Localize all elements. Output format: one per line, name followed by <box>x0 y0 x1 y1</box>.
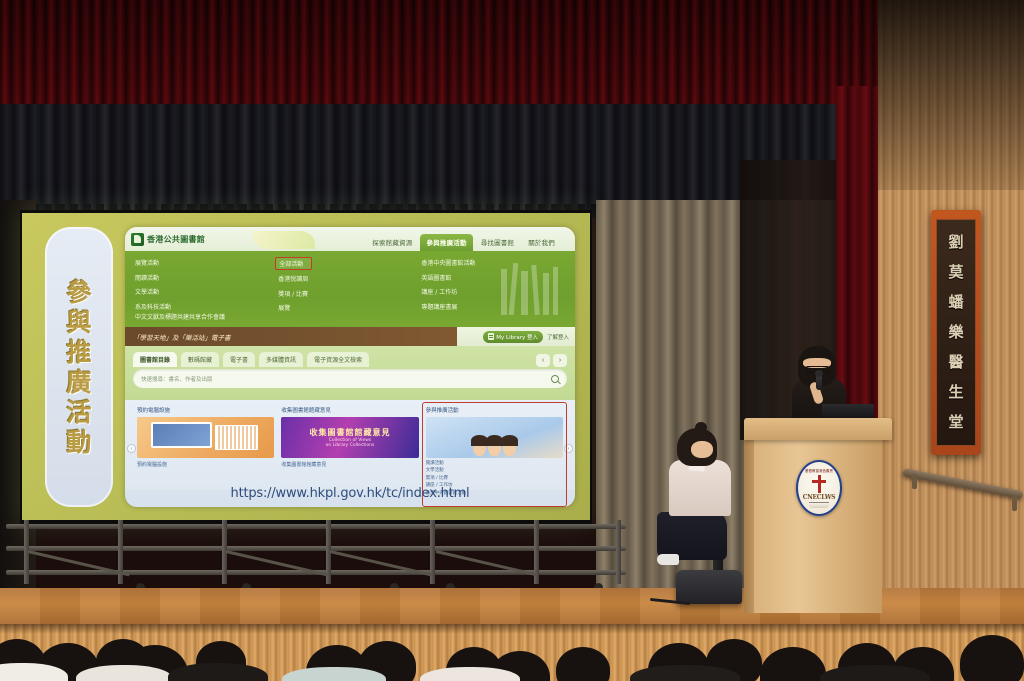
plaque-char: 樂 <box>948 325 963 340</box>
podium-top <box>744 418 892 440</box>
collection-of-views-banner: 收集圖書館館藏意見 Collection of Views on Library… <box>281 417 418 458</box>
student-face <box>473 438 486 456</box>
banner-english-line2: on Library Collections <box>326 443 375 448</box>
search-icon[interactable] <box>551 375 559 383</box>
mega-item[interactable]: 文學活動 <box>135 287 278 296</box>
microphone-icon <box>816 374 822 390</box>
my-library-login-button[interactable]: My Library 登入 <box>483 331 543 343</box>
student-face <box>503 438 516 456</box>
slide-url-text: https://www.hkpl.gov.hk/tc/index.html <box>125 486 575 501</box>
plaque-char: 蟠 <box>948 295 963 310</box>
wall-plaque-inner: 劉 莫 蟠 樂 醫 生 堂 <box>936 219 976 446</box>
projection-screen: 參 與 推 廣 活 動 香港公共圖書館 探索館藏資源 參與推廣活動 <box>20 210 592 525</box>
podium: 基督教香港信義會 CNECLWS <box>744 418 892 613</box>
handrail-bracket <box>1012 496 1017 511</box>
activity-item[interactable]: 獎項 / 比賽 <box>426 475 563 481</box>
slide-title-char: 動 <box>66 430 91 455</box>
nav-tab-find-library[interactable]: 尋找圖書館 <box>475 234 521 251</box>
audience-shoulder <box>76 665 172 681</box>
cards-prev-icon[interactable]: ‹ <box>127 444 136 453</box>
mega-column-2: 全部活動 香港悅讀周 獎項 / 比賽 展覽 <box>278 258 421 312</box>
library-book-icon <box>131 233 144 246</box>
slide-side-title: 參 與 推 廣 活 動 <box>45 227 113 507</box>
mega-item[interactable]: 閱讀活動 <box>135 273 278 282</box>
login-help-link[interactable]: 了解登入 <box>547 333 569 341</box>
banner-login-area: My Library 登入 了解登入 <box>457 327 575 346</box>
feature-card-computer[interactable]: 預約電腦設施 預約電腦設施 <box>137 406 274 490</box>
equipment-case <box>676 570 742 604</box>
slide-title-char: 推 <box>66 340 91 365</box>
crest-abbreviation: CNECLWS <box>803 494 835 501</box>
mega-item-wide[interactable]: 中文文獻及標題共建共享合作會議 <box>135 312 225 321</box>
search-tab-bar: 圖書館目錄 數碼館藏 電子書 多媒體資訊 電子資源全文檢索 ‹ › <box>133 352 567 367</box>
feature-card-activities-highlighted[interactable]: 參與推廣活動 閱讀活動 文學活動 獎項 / 比賽 講座 / 工作坊 香港中央圖書… <box>426 406 563 490</box>
search-tab-multimedia[interactable]: 多媒體資訊 <box>259 352 303 367</box>
library-card-icon <box>488 333 494 340</box>
stage-railing <box>6 520 626 590</box>
student-face <box>488 438 501 456</box>
nav-tab-explore[interactable]: 探索館藏資源 <box>366 234 418 251</box>
slide-title-char: 活 <box>66 400 91 425</box>
chevron-left-icon[interactable]: ‹ <box>536 354 550 367</box>
audience-shoulder <box>820 665 930 681</box>
site-nav: 探索館藏資源 參與推廣活動 尋找圖書館 關於我們 <box>366 227 569 251</box>
mega-item[interactable]: 展覽 <box>278 303 421 312</box>
hkpl-logo[interactable]: 香港公共圖書館 <box>131 233 205 246</box>
slide-title-char: 與 <box>66 310 91 335</box>
plaque-char: 劉 <box>948 235 963 250</box>
banner-chinese-title: 收集圖書館館藏意見 <box>309 427 390 438</box>
activity-item[interactable]: 文學活動 <box>426 467 563 473</box>
seated-student <box>655 424 743 588</box>
audience-head <box>760 647 826 681</box>
card-title: 收集圖書館館藏意見 <box>281 406 418 414</box>
speaker-presenter <box>786 348 852 424</box>
student-shoe <box>657 554 679 565</box>
feature-cards: ‹ › 預約電腦設施 預約電腦設施 收集圖書館館藏意見 收集圖書館館藏意見 Co… <box>125 400 575 490</box>
handrail-bracket <box>912 474 917 489</box>
card-title: 預約電腦設施 <box>137 406 274 414</box>
audience-shoulder <box>168 663 268 681</box>
audience-shoulder <box>630 665 740 681</box>
student-trousers <box>657 512 727 560</box>
banner-caption: 「學習天地」及「樂活站」電子書 <box>125 332 231 342</box>
card-link[interactable]: 收集圖書館館藏意見 <box>281 461 418 468</box>
search-tab-arrows: ‹ › <box>536 354 567 367</box>
plaque-char: 堂 <box>948 415 963 430</box>
open-book-icon <box>809 502 829 508</box>
railing-post <box>616 520 621 584</box>
feature-card-views[interactable]: 收集圖書館館藏意見 收集圖書館館藏意見 Collection of Views … <box>281 406 418 490</box>
plaque-char: 莫 <box>948 265 963 280</box>
three-students-photo <box>426 417 563 458</box>
search-tab-fulltext[interactable]: 電子資源全文檢索 <box>307 352 369 367</box>
chevron-right-icon[interactable]: › <box>553 354 567 367</box>
hero-banner: 「學習天地」及「樂活站」電子書 ❙❙ ▶ <box>125 327 575 346</box>
mega-item[interactable]: 香港悅讀周 <box>278 274 421 283</box>
audience-row <box>0 604 1024 681</box>
search-tab-ebook[interactable]: 電子書 <box>223 352 255 367</box>
nav-tab-activities[interactable]: 參與推廣活動 <box>420 234 472 251</box>
plaque-char: 生 <box>948 385 963 400</box>
wall-plaque: 劉 莫 蟠 樂 醫 生 堂 <box>931 210 981 455</box>
card-title: 參與推廣活動 <box>426 406 563 414</box>
mega-item[interactable]: 系及科技活動 <box>135 302 278 311</box>
site-logo-text: 香港公共圖書館 <box>147 234 205 245</box>
card-link[interactable]: 預約電腦設施 <box>137 461 274 468</box>
mega-item[interactable]: 展覽活動 <box>135 258 278 267</box>
railing-bar <box>6 524 626 529</box>
school-crest: 基督教香港信義會 CNECLWS <box>796 460 842 516</box>
search-placeholder: 快速搜尋：書名、作者及出版 <box>141 375 213 383</box>
site-header: 香港公共圖書館 探索館藏資源 參與推廣活動 尋找圖書館 關於我們 <box>125 227 575 251</box>
search-tab-catalogue[interactable]: 圖書館目錄 <box>133 352 177 367</box>
header-swoosh-graphic <box>253 231 315 249</box>
hall-wall-right-shadow <box>878 0 1024 190</box>
cards-next-icon[interactable]: › <box>564 444 573 453</box>
crest-chinese-text: 基督教香港信義會 <box>805 469 833 474</box>
search-tab-digital[interactable]: 數碼館藏 <box>181 352 219 367</box>
search-input[interactable]: 快速搜尋：書名、作者及出版 <box>133 369 567 388</box>
railing-bar <box>6 546 626 551</box>
hall-scene: 劉 莫 蟠 樂 醫 生 堂 參 與 推 廣 活 動 <box>0 0 1024 681</box>
slide-title-char: 廣 <box>66 370 91 395</box>
plaque-char: 醫 <box>948 355 963 370</box>
computer-desk-illustration <box>137 417 274 458</box>
audience-head <box>556 647 610 681</box>
bookshelf-icon <box>495 261 567 319</box>
login-button-label: My Library 登入 <box>496 333 538 341</box>
search-section: 圖書館目錄 數碼館藏 電子書 多媒體資訊 電子資源全文檢索 ‹ › 快速搜尋：書… <box>125 346 575 400</box>
presentation-slide: 參 與 推 廣 活 動 香港公共圖書館 探索館藏資源 參與推廣活動 <box>22 213 590 520</box>
website-screenshot: 香港公共圖書館 探索館藏資源 參與推廣活動 尋找圖書館 關於我們 <box>125 227 575 507</box>
mega-item-all-activities-highlighted[interactable]: 全部活動 <box>275 257 312 271</box>
mega-item[interactable]: 獎項 / 比賽 <box>278 289 421 298</box>
activity-item[interactable]: 閱讀活動 <box>426 460 563 466</box>
mega-column-1: 展覽活動 閱讀活動 文學活動 系及科技活動 <box>135 258 278 312</box>
mega-dropdown-menu: 展覽活動 閱讀活動 文學活動 系及科技活動 全部活動 香港悅讀周 獎項 / 比賽… <box>125 251 575 327</box>
student-hair <box>677 428 717 466</box>
nav-tab-about-us[interactable]: 關於我們 <box>522 234 561 251</box>
audience-head <box>960 635 1024 681</box>
slide-title-char: 參 <box>66 280 91 305</box>
red-cross-icon <box>812 475 826 493</box>
student-hair-bun <box>695 422 707 433</box>
